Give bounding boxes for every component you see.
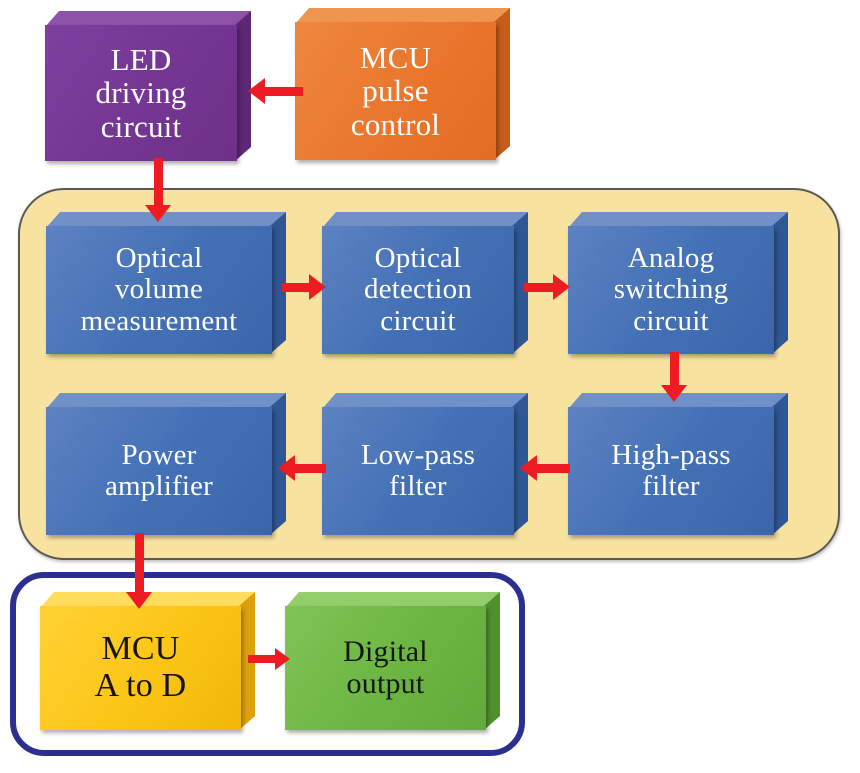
- arrow-head: [275, 648, 290, 670]
- arrow-head: [553, 274, 570, 300]
- block-led-driving-circuit[interactable]: LED driving circuit: [45, 11, 251, 161]
- block-low-pass-filter[interactable]: Low-pass filter: [322, 393, 528, 535]
- arrow-head: [661, 385, 687, 402]
- block-high-pass-filter[interactable]: High-pass filter: [568, 393, 788, 535]
- block-label: Optical volume measurement: [75, 243, 244, 337]
- arrow-head: [145, 205, 171, 222]
- block-front-face: Low-pass filter: [322, 407, 514, 535]
- arrow-shaft: [154, 158, 163, 206]
- block-optical-volume-measurement[interactable]: Optical volume measurement: [46, 212, 286, 354]
- block-digital-output[interactable]: Digital output: [285, 592, 500, 730]
- block-label: LED driving circuit: [90, 43, 193, 143]
- arrow-optical-volume-to-optical-detection: [282, 274, 326, 300]
- arrow-head: [520, 455, 537, 481]
- block-label: MCU pulse control: [345, 41, 446, 141]
- block-front-face: Power amplifier: [46, 407, 272, 535]
- block-side-face: [772, 393, 788, 535]
- arrow-shaft: [524, 283, 556, 292]
- block-analog-switching-circuit[interactable]: Analog switching circuit: [568, 212, 788, 354]
- block-front-face: MCU A to D: [40, 606, 241, 730]
- block-diagram: LED driving circuit MCU pulse control Op…: [0, 0, 860, 773]
- block-front-face: High-pass filter: [568, 407, 774, 535]
- block-side-face: [484, 592, 500, 730]
- block-label: Low-pass filter: [355, 440, 481, 503]
- arrow-shaft: [293, 464, 326, 473]
- arrow-shaft: [263, 87, 303, 96]
- arrow-shaft: [248, 655, 276, 663]
- arrow-high-pass-to-low-pass: [520, 455, 570, 481]
- block-label: High-pass filter: [605, 440, 736, 503]
- arrow-shaft: [135, 533, 144, 593]
- arrow-analog-switching-to-high-pass: [661, 352, 687, 402]
- block-label: MCU A to D: [89, 631, 193, 704]
- block-side-face: [772, 212, 788, 354]
- block-label: Digital output: [337, 636, 434, 701]
- block-front-face: LED driving circuit: [45, 25, 237, 161]
- block-front-face: MCU pulse control: [295, 22, 496, 160]
- arrow-head: [309, 274, 326, 300]
- arrow-head: [278, 455, 295, 481]
- arrow-shaft: [535, 464, 570, 473]
- block-mcu-pulse-control[interactable]: MCU pulse control: [295, 8, 510, 160]
- arrow-power-amplifier-to-mcu-a-to-d: [126, 533, 152, 609]
- block-label: Power amplifier: [99, 440, 219, 503]
- arrow-shaft: [282, 283, 312, 292]
- block-optical-detection-circuit[interactable]: Optical detection circuit: [322, 212, 528, 354]
- arrow-head: [126, 592, 152, 609]
- block-front-face: Optical volume measurement: [46, 226, 272, 354]
- arrow-shaft: [670, 352, 679, 386]
- arrow-mcu-pulse-to-led-driving: [248, 78, 303, 104]
- block-label: Optical detection circuit: [358, 243, 478, 337]
- arrow-optical-detection-to-analog-switching: [524, 274, 570, 300]
- block-front-face: Digital output: [285, 606, 486, 730]
- arrow-mcu-a-to-d-to-digital-output: [248, 648, 290, 670]
- block-power-amplifier[interactable]: Power amplifier: [46, 393, 286, 535]
- arrow-led-driving-to-optical-volume: [145, 158, 171, 222]
- block-label: Analog switching circuit: [608, 243, 735, 337]
- arrow-head: [248, 78, 265, 104]
- block-side-face: [494, 8, 510, 160]
- block-mcu-a-to-d[interactable]: MCU A to D: [40, 592, 255, 730]
- block-front-face: Optical detection circuit: [322, 226, 514, 354]
- block-front-face: Analog switching circuit: [568, 226, 774, 354]
- arrow-low-pass-to-power-amplifier: [278, 455, 326, 481]
